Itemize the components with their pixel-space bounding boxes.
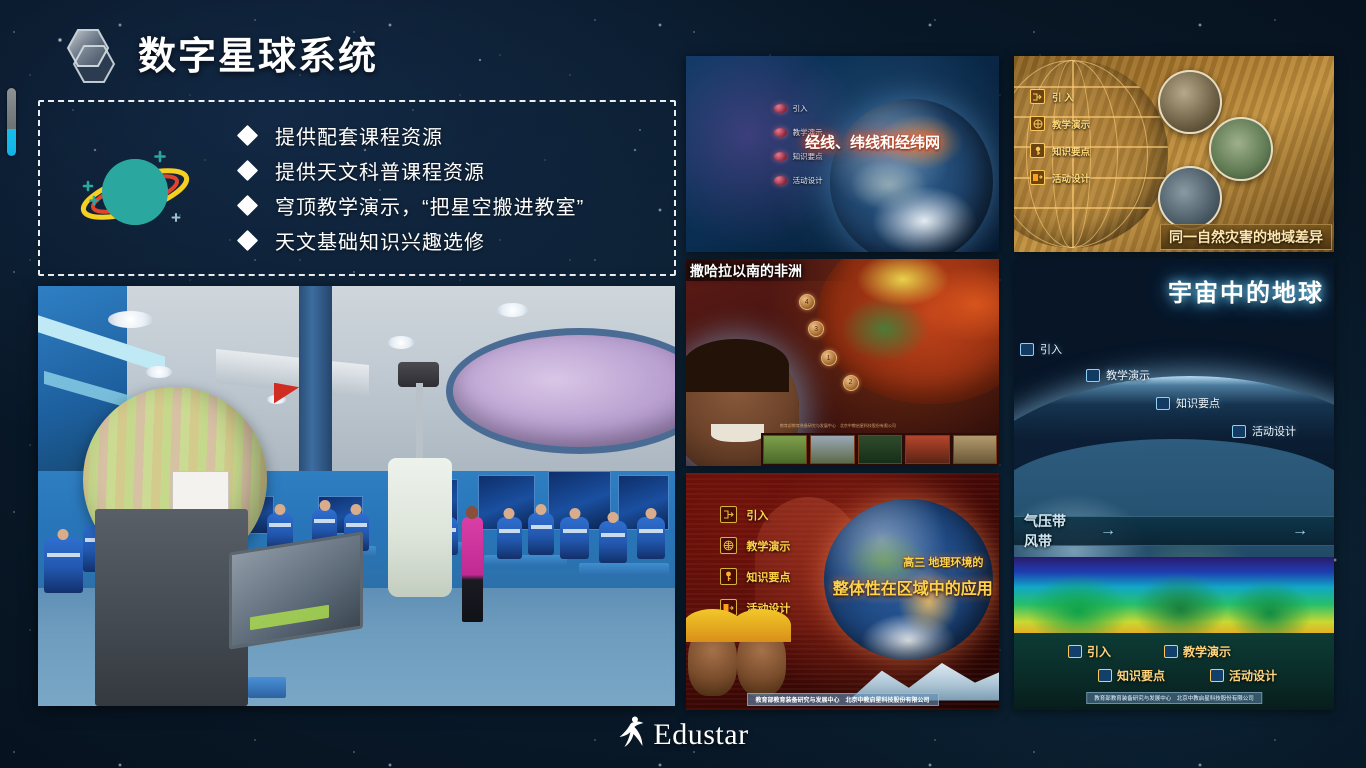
tile-title: 宇宙中的地球 bbox=[1168, 273, 1324, 308]
bullet-label: 提供天文科普课程资源 bbox=[275, 156, 485, 185]
digital-planetarium-classroom-photo bbox=[38, 286, 675, 706]
enter-arrow-icon bbox=[1030, 89, 1045, 104]
bullet-label: 天文基础知识兴趣选修 bbox=[275, 226, 485, 255]
course-tile-jingweiwang[interactable]: 引入 教学演示 知识要点 活动设计 经线、纬线和经纬网 bbox=[686, 56, 999, 252]
menu-item-activity[interactable]: 活动设计 bbox=[1030, 170, 1090, 185]
thumbnail-item[interactable] bbox=[858, 435, 902, 464]
diamond-bullet-icon bbox=[237, 230, 258, 251]
enter-arrow-icon bbox=[720, 506, 737, 523]
menu-item-label: 活动设计 bbox=[1252, 423, 1296, 439]
menu-item-label: 引入 bbox=[793, 103, 808, 114]
menu-item-label: 知识要点 bbox=[1117, 667, 1165, 684]
bullet-item-3: 穹顶教学演示，“把星空搬进教室” bbox=[240, 188, 662, 223]
diamond-bullet-icon bbox=[237, 195, 258, 216]
menu-item-label: 活动设计 bbox=[793, 175, 823, 186]
sphere-bullet-icon bbox=[774, 104, 787, 113]
tile-footer: 引入 教学演示 知识要点 活动设计 教育部教育装备研究与发展中心 北京中教启星科… bbox=[1014, 633, 1334, 710]
feature-bullet-panel: 提供配套课程资源 提供天文科普课程资源 穹顶教学演示，“把星空搬进教室” 天文基… bbox=[38, 100, 676, 276]
menu-item-keypoints[interactable]: 知识要点 bbox=[1030, 143, 1090, 158]
key-icon bbox=[1098, 669, 1112, 682]
menu-item-activity[interactable]: 活动设计 bbox=[774, 175, 823, 186]
flood-photo-thumb bbox=[1158, 70, 1222, 135]
key-icon bbox=[720, 568, 737, 585]
globe-grid-icon bbox=[1030, 116, 1045, 131]
hotspot-node[interactable]: 1 bbox=[821, 350, 837, 366]
menu-item-label: 引入 bbox=[746, 507, 768, 523]
page-title: 数字星球系统 bbox=[138, 38, 378, 76]
tile-menu[interactable]: 引 入 教学演示 知识要点 活动设计 bbox=[1030, 89, 1090, 197]
tile-title: 同一自然灾害的地域差异 bbox=[1160, 224, 1332, 250]
sphere-bullet-icon bbox=[774, 152, 787, 161]
menu-item-label: 知识要点 bbox=[1052, 144, 1090, 158]
thumbnail-item[interactable] bbox=[953, 435, 997, 464]
menu-item-label: 引 入 bbox=[1052, 90, 1074, 104]
menu-item-demo[interactable]: 教学演示 bbox=[1164, 643, 1231, 660]
tile-title-line1: 高三 地理环境的 bbox=[903, 554, 983, 570]
menu-item-keypoints[interactable]: 知识要点 bbox=[1098, 667, 1165, 684]
right-arrow-icon[interactable]: → bbox=[1292, 522, 1308, 540]
progress-fill bbox=[7, 129, 16, 156]
bullet-list: 提供配套课程资源 提供天文科普课程资源 穹顶教学演示，“把星空搬进教室” 天文基… bbox=[240, 118, 662, 258]
menu-item-keypoints[interactable]: 知识要点 bbox=[720, 568, 790, 585]
menu-item-intro[interactable]: 引入 bbox=[1020, 341, 1062, 357]
menu-item-label: 引入 bbox=[1087, 643, 1111, 660]
activity-square-icon bbox=[1232, 425, 1246, 438]
diamond-bullet-icon bbox=[237, 160, 258, 181]
footer-brand: Edustar bbox=[617, 715, 748, 754]
menu-item-intro[interactable]: 引入 bbox=[774, 103, 823, 114]
hotspot-node[interactable]: 4 bbox=[799, 294, 815, 310]
thumbnail-item[interactable] bbox=[763, 435, 807, 464]
credit-line: 教育部教育装备研究与发展中心 北京中教启星科技股份有限公司 bbox=[746, 693, 938, 706]
chapter-nav-band[interactable]: 气压带风带 → → bbox=[1014, 516, 1334, 546]
vertical-progress-indicator[interactable] bbox=[7, 88, 16, 156]
brand-name: Edustar bbox=[653, 718, 748, 752]
menu-item-activity[interactable]: 活动设计 bbox=[1210, 667, 1277, 684]
indigenous-portrait-photo bbox=[686, 625, 792, 696]
menu-item-label: 教学演示 bbox=[1106, 367, 1150, 383]
activity-square-icon bbox=[1210, 669, 1224, 682]
sphere-bullet-icon bbox=[774, 176, 787, 185]
flood-photo-thumb bbox=[1209, 117, 1273, 182]
globe-grid-icon bbox=[1086, 369, 1100, 382]
bullet-item-2: 提供天文科普课程资源 bbox=[240, 153, 662, 188]
enter-arrow-icon bbox=[1068, 645, 1082, 658]
hexagon-cube-logo-icon bbox=[58, 26, 124, 88]
menu-item-label: 知识要点 bbox=[1176, 395, 1220, 411]
menu-item-keypoints[interactable]: 知识要点 bbox=[1156, 395, 1220, 411]
hotspot-node[interactable]: 2 bbox=[843, 375, 859, 391]
diamond-bullet-icon bbox=[237, 125, 258, 146]
bullet-item-4: 天文基础知识兴趣选修 bbox=[240, 223, 662, 258]
key-icon bbox=[1156, 397, 1170, 410]
course-screenshot-grid: 引入 教学演示 知识要点 活动设计 经线、纬线和经纬网 bbox=[686, 56, 1334, 706]
thumbnail-strip[interactable] bbox=[761, 433, 999, 466]
flood-photo-thumb bbox=[1158, 166, 1222, 231]
menu-item-label: 引入 bbox=[1040, 341, 1062, 357]
menu-item-intro[interactable]: 引入 bbox=[1068, 643, 1111, 660]
menu-item-intro[interactable]: 引入 bbox=[720, 506, 790, 523]
menu-item-activity[interactable]: 活动设计 bbox=[1232, 423, 1296, 439]
credit-line: 教育部教育装备研究与发展中心 北京中教启星科技股份有限公司 bbox=[1086, 692, 1262, 704]
earth-globe-graphic bbox=[830, 99, 993, 252]
thumbnail-item[interactable] bbox=[810, 435, 854, 464]
menu-item-label: 教学演示 bbox=[1052, 117, 1090, 131]
bullet-label: 提供配套课程资源 bbox=[275, 121, 443, 150]
menu-item-label: 知识要点 bbox=[746, 569, 790, 585]
course-tile-geo-integrity[interactable]: 高三 地理环境的 整体性在区域中的应用 引入 教学演示 知识要点 bbox=[686, 473, 999, 710]
sphere-bullet-icon bbox=[774, 128, 787, 137]
credit-line: 教育部教育装备研究与发展中心 北京中教启星科技股份有限公司 bbox=[780, 423, 896, 429]
bullet-label: 穹顶教学演示，“把星空搬进教室” bbox=[275, 191, 584, 220]
star-person-logo-icon bbox=[617, 715, 647, 754]
menu-item-demo[interactable]: 教学演示 bbox=[720, 537, 790, 554]
menu-item-label: 教学演示 bbox=[1183, 643, 1231, 660]
globe-grid-icon bbox=[1164, 645, 1178, 658]
planet-with-rings-icon bbox=[72, 140, 202, 240]
menu-item-label: 活动设计 bbox=[1052, 171, 1090, 185]
menu-item-label: 教学演示 bbox=[746, 538, 790, 554]
tile-title: 经线、纬线和经纬网 bbox=[805, 132, 940, 153]
globe-grid-icon bbox=[720, 537, 737, 554]
key-icon bbox=[1030, 143, 1045, 158]
tile-title: 撒哈拉以南的非洲 bbox=[690, 261, 802, 281]
right-arrow-icon[interactable]: → bbox=[1100, 522, 1116, 540]
course-tile-natural-disaster[interactable]: 引 入 教学演示 知识要点 活动设计 bbox=[1014, 56, 1334, 252]
course-tile-sub-saharan-africa[interactable]: 撒哈拉以南的非洲 4 3 1 2 教育部教育装备研究与发展中心 北京中教启星科技… bbox=[686, 259, 999, 466]
menu-item-demo[interactable]: 教学演示 bbox=[1086, 367, 1150, 383]
bullet-item-1: 提供配套课程资源 bbox=[240, 118, 662, 153]
menu-item-demo[interactable]: 教学演示 bbox=[1030, 116, 1090, 131]
page-header: 数字星球系统 bbox=[58, 26, 378, 88]
chapter-label: 气压带风带 bbox=[1024, 511, 1074, 551]
course-tile-earth-in-universe[interactable]: 宇宙中的地球 引入 教学演示 知识要点 活动设计 气压带风带 → → bbox=[1014, 259, 1334, 710]
enter-arrow-icon bbox=[1020, 343, 1034, 356]
menu-item-intro[interactable]: 引 入 bbox=[1030, 89, 1090, 104]
menu-item-label: 活动设计 bbox=[1229, 667, 1277, 684]
thumbnail-item[interactable] bbox=[905, 435, 949, 464]
tile-title-line2: 整体性在区域中的应用 bbox=[833, 575, 993, 599]
activity-square-icon bbox=[1030, 170, 1045, 185]
